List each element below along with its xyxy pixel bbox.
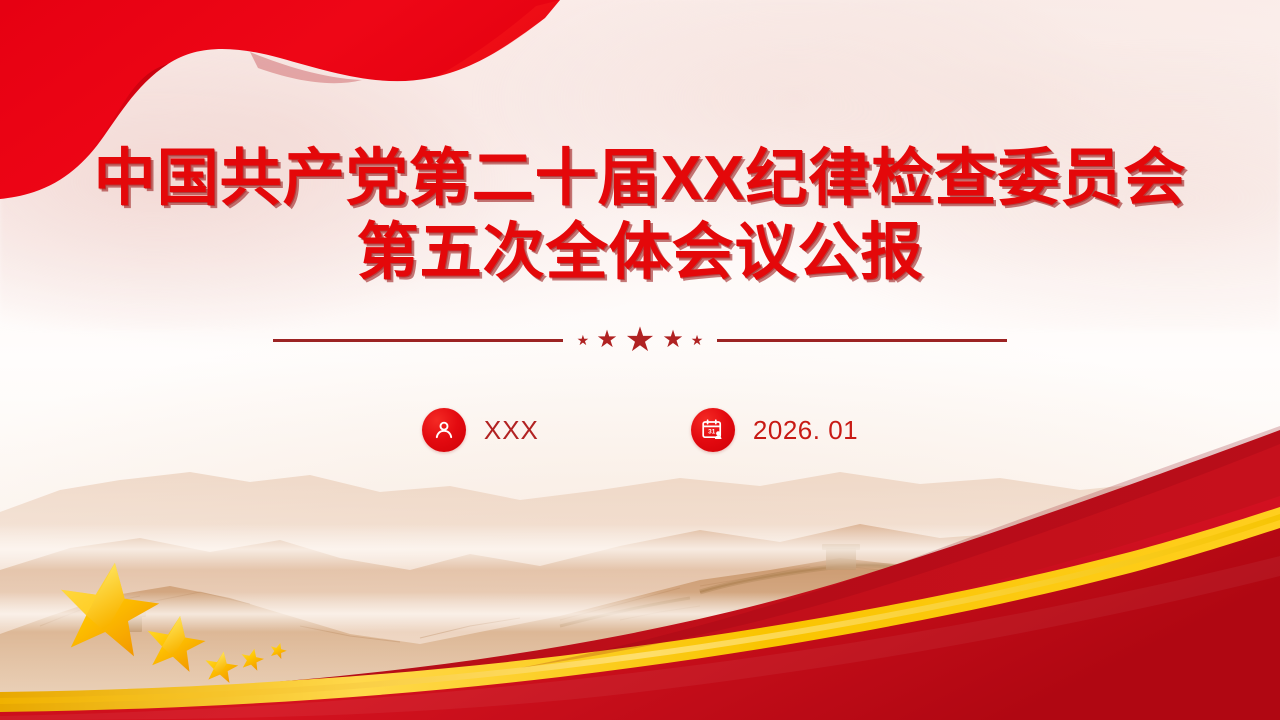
gold-star-4 <box>239 646 266 671</box>
divider-rule-right <box>717 339 1007 342</box>
divider-rule-left <box>273 339 563 342</box>
divider-star-3: ★ <box>625 323 655 357</box>
gold-star-1 <box>53 556 164 659</box>
divider-stars: ★ ★ ★ ★ ★ <box>577 323 704 357</box>
svg-text:31: 31 <box>708 429 716 436</box>
title-line-2: 第五次全体会议公报 <box>0 216 1280 290</box>
date-label: 2026. 01 <box>753 415 858 446</box>
divider-star-1: ★ <box>577 333 590 347</box>
gold-star-3 <box>202 649 240 684</box>
divider-star-5: ★ <box>691 333 704 347</box>
presenter-item: XXX <box>422 408 539 452</box>
title-divider: ★ ★ ★ ★ ★ <box>0 320 1280 360</box>
meta-row: XXX 31 2026. 01 <box>0 408 1280 452</box>
presenter-label: XXX <box>484 415 539 446</box>
title-line-1: 中国共产党第二十届XX纪律检查委员会 <box>0 142 1280 216</box>
page-title: 中国共产党第二十届XX纪律检查委员会 第五次全体会议公报 <box>0 142 1280 290</box>
date-item: 31 2026. 01 <box>691 408 858 452</box>
divider-star-2: ★ <box>596 328 618 352</box>
gold-star-2 <box>142 611 209 674</box>
divider-star-4: ★ <box>662 328 684 352</box>
slide-canvas: 中国共产党第二十届XX纪律检查委员会 第五次全体会议公报 ★ ★ ★ ★ ★ X… <box>0 0 1280 720</box>
person-icon <box>422 408 466 452</box>
gold-star-5 <box>268 641 288 660</box>
calendar-icon: 31 <box>691 408 735 452</box>
gold-stars-group <box>0 520 420 720</box>
